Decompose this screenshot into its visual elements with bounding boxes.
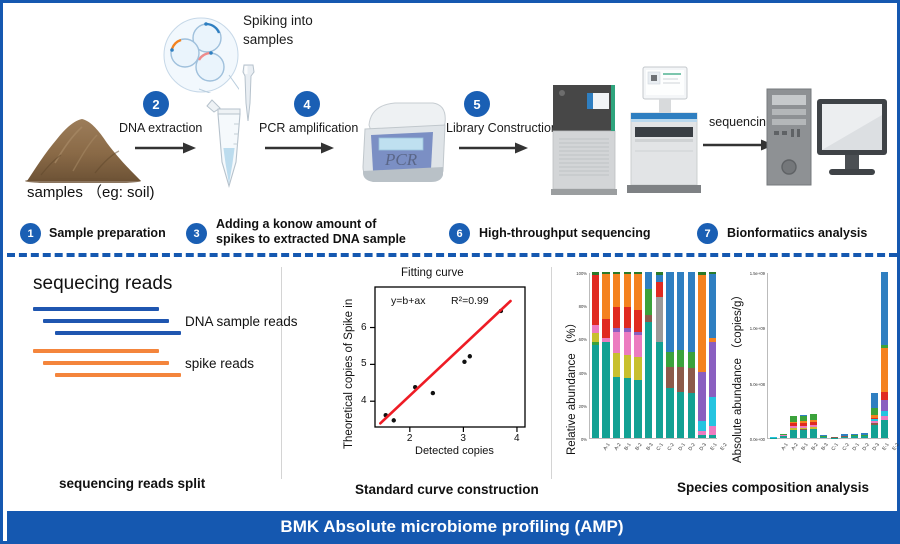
bar-column	[666, 272, 673, 438]
bar-segment	[645, 272, 652, 289]
bar-xtick: D-3	[872, 442, 882, 452]
bar-segment	[688, 393, 695, 438]
dna-read-line	[55, 331, 181, 335]
scatter-ytick: 5	[361, 358, 367, 369]
bar-segment	[881, 392, 888, 401]
bar-segment	[780, 436, 787, 438]
step-badge-2: 2	[143, 91, 169, 117]
bar-xtick: A-2	[790, 442, 799, 452]
bar-segment	[881, 400, 888, 411]
bar-ytick: 80%	[559, 304, 587, 309]
scatter-ytick: 4	[361, 395, 367, 406]
eppendorf-tube-illustration	[206, 98, 250, 190]
relative-abundance-chart: Relative abundance （%） 0%20%40%60%80%100…	[555, 265, 725, 477]
bar-segment	[698, 372, 705, 422]
reads-title: sequecing reads	[33, 273, 172, 295]
bar-segment	[677, 367, 684, 392]
step-badge-7: 7	[697, 223, 718, 244]
scatter-equation: y=b+ax	[391, 295, 425, 307]
scatter-ytick: 6	[361, 322, 367, 333]
infographic-root: samples （eg: soil) Spiking into samples	[0, 0, 900, 544]
bar-xtick: C-2	[841, 442, 851, 452]
scatter-xtick: 2	[407, 433, 413, 444]
bar-segment	[820, 437, 827, 438]
caption-step-7: Bionformatiics analysis	[727, 227, 867, 241]
workflow-panel: samples （eg: soil) Spiking into samples	[3, 3, 897, 253]
bar-column	[624, 272, 631, 438]
bar-segment	[881, 272, 888, 345]
bar-segment	[698, 421, 705, 431]
analysis-panel: sequecing reads DNA sample reads spike r…	[3, 259, 897, 509]
bar-column	[645, 272, 652, 438]
bar-segment	[656, 275, 663, 282]
separator-2	[551, 267, 552, 479]
spiking-label-line2: samples	[243, 32, 293, 47]
bar-segment	[613, 274, 620, 307]
caption-step-1: Sample preparation	[49, 227, 166, 241]
bar-segment	[645, 289, 652, 316]
caption-step-6: High-throughput sequencing	[479, 227, 651, 241]
bar-segment	[871, 425, 878, 438]
bar-segment	[666, 272, 673, 352]
scatter-r-squared: R²=0.99	[451, 295, 489, 307]
panel-divider	[7, 253, 897, 257]
bar-segment	[677, 350, 684, 367]
bar-column	[841, 434, 848, 438]
spike-read-line	[43, 361, 169, 365]
bar-segment	[624, 355, 631, 378]
bar-segment	[841, 437, 848, 438]
bar-segment	[790, 430, 797, 438]
caption-step-3-line2: spikes to extracted DNA sample	[216, 233, 406, 247]
bar-xtick: D-1	[677, 442, 687, 452]
bar-column	[688, 272, 695, 438]
dna-reads-legend: DNA sample reads	[185, 314, 298, 329]
bar-column	[780, 433, 787, 438]
scatter-xtick: 3	[460, 433, 466, 444]
library-prep-instrument-illustration	[551, 85, 617, 195]
bar-segment	[709, 397, 716, 427]
bar-segment	[871, 408, 878, 415]
bar-segment	[709, 426, 716, 434]
bar-xtick: D-2	[861, 442, 871, 452]
bar-ytick: 60%	[559, 337, 587, 342]
svg-text:PCR: PCR	[384, 150, 418, 169]
caption-species-composition: Species composition analysis	[643, 481, 900, 495]
sequencing-label: sequencing	[709, 115, 773, 129]
bar-segment	[645, 322, 652, 438]
dna-extraction-label: DNA extraction	[119, 121, 202, 135]
caption-step-3-line1: Adding a konow amount of	[216, 218, 376, 232]
step-badge-6: 6	[449, 223, 470, 244]
bar-xtick: D-3	[699, 442, 709, 452]
bar-segment	[592, 325, 599, 333]
bar-segment	[709, 274, 716, 339]
bar-xtick: A-1	[780, 442, 789, 452]
bar-segment	[881, 348, 888, 392]
bar-xtick: C-2	[667, 442, 677, 452]
sequencer-instrument-illustration	[621, 65, 703, 195]
step-badge-5: 5	[464, 91, 490, 117]
bar-column	[592, 272, 599, 438]
bar-segment	[613, 307, 620, 329]
separator-1	[281, 267, 282, 479]
bar-xtick: B-2	[634, 442, 643, 452]
bar-xtick: E-2	[892, 442, 900, 452]
bar-segment	[624, 307, 631, 329]
samples-label: samples （eg: soil)	[27, 181, 155, 202]
bar-column	[613, 272, 620, 438]
bar-column	[698, 272, 705, 438]
bar-segment	[800, 430, 807, 438]
bar-segment	[592, 333, 599, 341]
pcr-amplification-label: PCR amplification	[259, 121, 358, 135]
bar-segment	[656, 342, 663, 438]
library-construction-label: Library Construction	[446, 121, 558, 135]
bar-xtick: B-1	[800, 442, 809, 452]
bar-column	[820, 435, 827, 438]
spike-plasmid-illustration	[163, 17, 239, 93]
bar-segment	[871, 393, 878, 408]
bar-ytick: 1.0e+09	[737, 326, 765, 331]
bar-segment	[634, 274, 641, 311]
bar-ytick: 0.0e+00	[737, 437, 765, 442]
bar-segment	[624, 332, 631, 355]
bar-column	[861, 433, 868, 438]
bar-segment	[624, 274, 631, 307]
bar-segment	[645, 315, 652, 322]
arrow-dna-extraction	[135, 141, 197, 155]
bar-segment	[688, 368, 695, 393]
step-badge-1: 1	[20, 223, 41, 244]
absolute-abundance-chart: Absolute abundance （copies/g） 0.0e+005.0…	[721, 265, 897, 477]
bar-segment	[881, 420, 888, 438]
bar-segment	[709, 342, 716, 397]
bar-ytick: 40%	[559, 371, 587, 376]
bar-ytick: 20%	[559, 404, 587, 409]
bar-xtick: E-1	[709, 442, 718, 452]
caption-reads-split: sequencing reads split	[59, 477, 205, 491]
bar-column	[851, 434, 858, 438]
bar-segment	[851, 436, 858, 438]
bar-xtick: D-1	[851, 442, 861, 452]
bar-ytick: 1.5e+09	[737, 271, 765, 276]
bar-column	[810, 414, 817, 438]
bar-xtick: A-1	[602, 442, 611, 452]
bar-segment	[861, 436, 868, 438]
bar-segment	[634, 357, 641, 380]
scatter-point	[392, 418, 396, 422]
caption-standard-curve: Standard curve construction	[355, 483, 539, 497]
bar-xtick: B-3	[645, 442, 654, 452]
bar-column	[602, 272, 609, 438]
arrow-library-construction	[459, 141, 529, 155]
bar-xtick: E-1	[882, 442, 891, 452]
bar-segment	[677, 392, 684, 438]
bar-column	[800, 415, 807, 438]
spike-reads-legend: spike reads	[185, 356, 254, 371]
dna-read-line	[33, 307, 159, 311]
bar-segment	[688, 352, 695, 369]
bar-segment	[656, 297, 663, 342]
bar-xtick: D-2	[688, 442, 698, 452]
bar-segment	[677, 272, 684, 350]
bar-segment	[688, 272, 695, 352]
bar-segment	[613, 332, 620, 354]
bar-xtick: C-1	[831, 442, 841, 452]
scatter-point	[431, 391, 435, 395]
bar-column	[677, 272, 684, 438]
footer-banner: BMK Absolute microbiome profiling (AMP)	[7, 511, 897, 543]
bar-column	[790, 416, 797, 438]
scatter-point	[462, 360, 466, 364]
bar-ytick: 0%	[559, 437, 587, 442]
bar-segment	[698, 275, 705, 371]
bar-xtick: B-1	[624, 442, 633, 452]
computer-illustration	[765, 85, 890, 195]
banner-title: BMK Absolute microbiome profiling (AMP)	[280, 517, 623, 537]
bar-column	[634, 272, 641, 438]
bar-column	[709, 272, 716, 438]
scatter-xtick: 4	[514, 433, 520, 444]
bar-ytick: 5.0e+08	[737, 382, 765, 387]
fitting-curve-chart: Fitting curve Theoretical copies of Spik…	[333, 267, 548, 472]
bar-segment	[634, 310, 641, 332]
bar-xtick: B-3	[821, 442, 830, 452]
bar-segment	[666, 367, 673, 389]
bar-segment	[592, 275, 599, 325]
bar-segment	[810, 429, 817, 438]
bar-segment	[592, 345, 599, 438]
bar-segment	[698, 435, 705, 438]
bar-segment	[613, 353, 620, 376]
bar-column	[881, 272, 888, 438]
bar-segment	[634, 335, 641, 357]
bar-column	[656, 272, 663, 438]
bar-segment	[624, 378, 631, 438]
spike-read-line	[33, 349, 159, 353]
bar-column	[831, 437, 838, 438]
bar-segment	[634, 380, 641, 438]
bar-segment	[602, 342, 609, 438]
bar-segment	[666, 352, 673, 367]
step-badge-4: 4	[294, 91, 320, 117]
scatter-point	[468, 354, 472, 358]
bar-segment	[666, 388, 673, 438]
bar-segment	[613, 377, 620, 438]
spike-read-line	[55, 373, 181, 377]
bar-column	[770, 437, 777, 438]
arrow-pcr-amplification	[265, 141, 335, 155]
scatter-xlabel: Detected copies	[415, 445, 494, 457]
bar-segment	[602, 319, 609, 339]
dna-read-line	[43, 319, 169, 323]
bar-segment	[656, 282, 663, 297]
bar-xtick: C-1	[656, 442, 666, 452]
step-badge-3: 3	[186, 223, 207, 244]
pcr-thermocycler-illustration: PCR	[355, 95, 451, 187]
bar-ytick: 100%	[559, 271, 587, 276]
bar-segment	[709, 435, 716, 438]
bar-xtick: B-2	[810, 442, 819, 452]
spiking-label-line1: Spiking into	[243, 13, 313, 28]
bar-xtick: A-2	[613, 442, 622, 452]
bar-segment	[602, 274, 609, 319]
bar-column	[871, 393, 878, 438]
